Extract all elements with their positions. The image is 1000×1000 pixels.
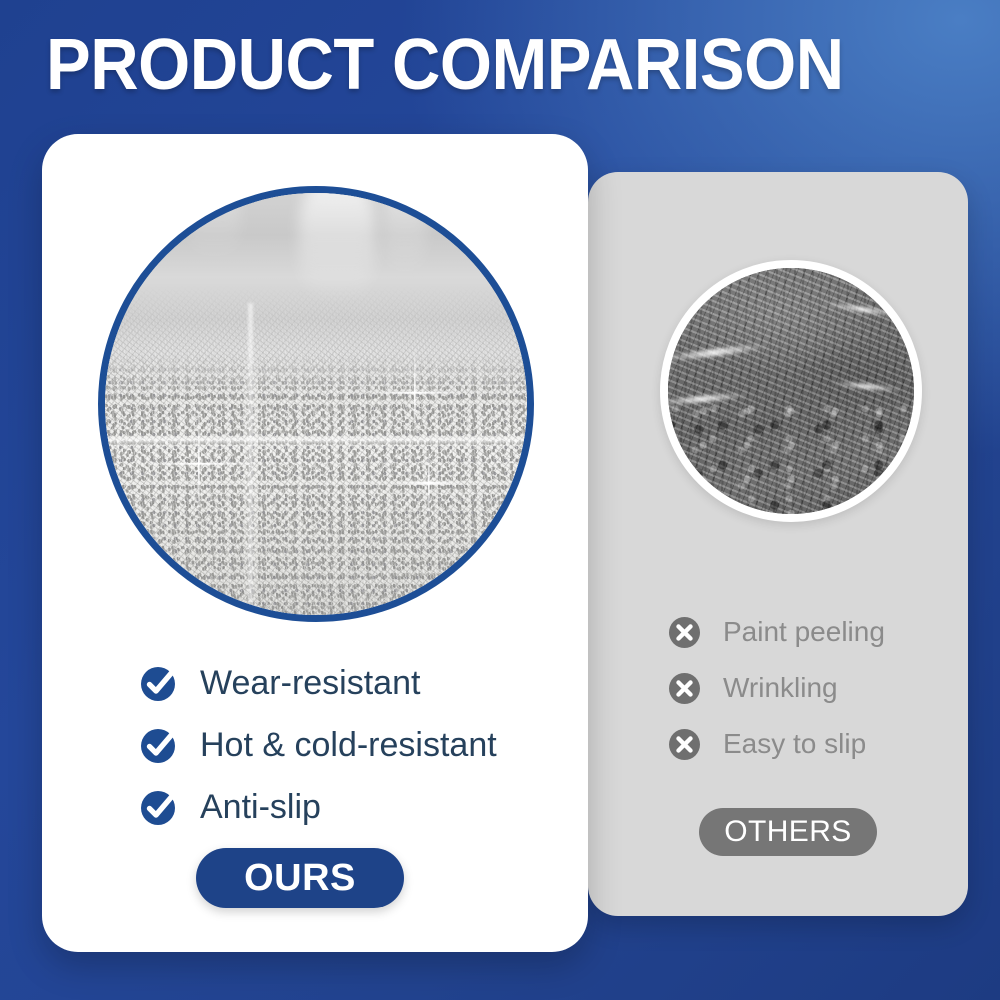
- list-item: Wrinkling: [668, 660, 958, 716]
- list-item: Paint peeling: [668, 604, 958, 660]
- x-circle-icon: [668, 672, 701, 705]
- list-item-label: Wrinkling: [723, 672, 838, 704]
- others-badge: OTHERS: [699, 808, 877, 856]
- x-circle-icon: [668, 616, 701, 649]
- check-circle-icon: [140, 788, 178, 826]
- photo-reflection: [189, 186, 240, 261]
- list-item-label: Anti-slip: [200, 788, 321, 826]
- floor-grout-line: [248, 303, 253, 615]
- ours-feature-list: Wear-resistant Hot & cold-resistant: [140, 652, 560, 838]
- list-item-label: Wear-resistant: [200, 664, 420, 702]
- ours-floor-photo: [98, 186, 534, 622]
- list-item-label: Paint peeling: [723, 616, 885, 648]
- list-item: Hot & cold-resistant: [140, 714, 560, 776]
- list-item-label: Easy to slip: [723, 728, 866, 760]
- list-item: Anti-slip: [140, 776, 560, 838]
- check-circle-icon: [140, 664, 178, 702]
- list-item: Easy to slip: [668, 716, 958, 772]
- photo-reflection: [384, 186, 426, 277]
- ours-card: Wear-resistant Hot & cold-resistant: [42, 134, 588, 952]
- product-comparison-graphic: PRODUCT COMPARISON Paint peeling: [0, 0, 1000, 1000]
- list-item-label: Hot & cold-resistant: [200, 726, 497, 764]
- others-drawback-list: Paint peeling Wrinkling: [668, 604, 958, 772]
- damaged-peeling-floor-photo: [668, 268, 914, 514]
- check-circle-icon: [140, 726, 178, 764]
- floor-grout-line: [105, 438, 527, 443]
- x-circle-icon: [668, 728, 701, 761]
- list-item: Wear-resistant: [140, 652, 560, 714]
- photo-reflection: [299, 186, 375, 303]
- page-title: PRODUCT COMPARISON: [46, 26, 902, 104]
- others-floor-photo: [660, 260, 922, 522]
- ours-badge: OURS: [196, 848, 404, 908]
- others-card: Paint peeling Wrinkling: [588, 172, 968, 916]
